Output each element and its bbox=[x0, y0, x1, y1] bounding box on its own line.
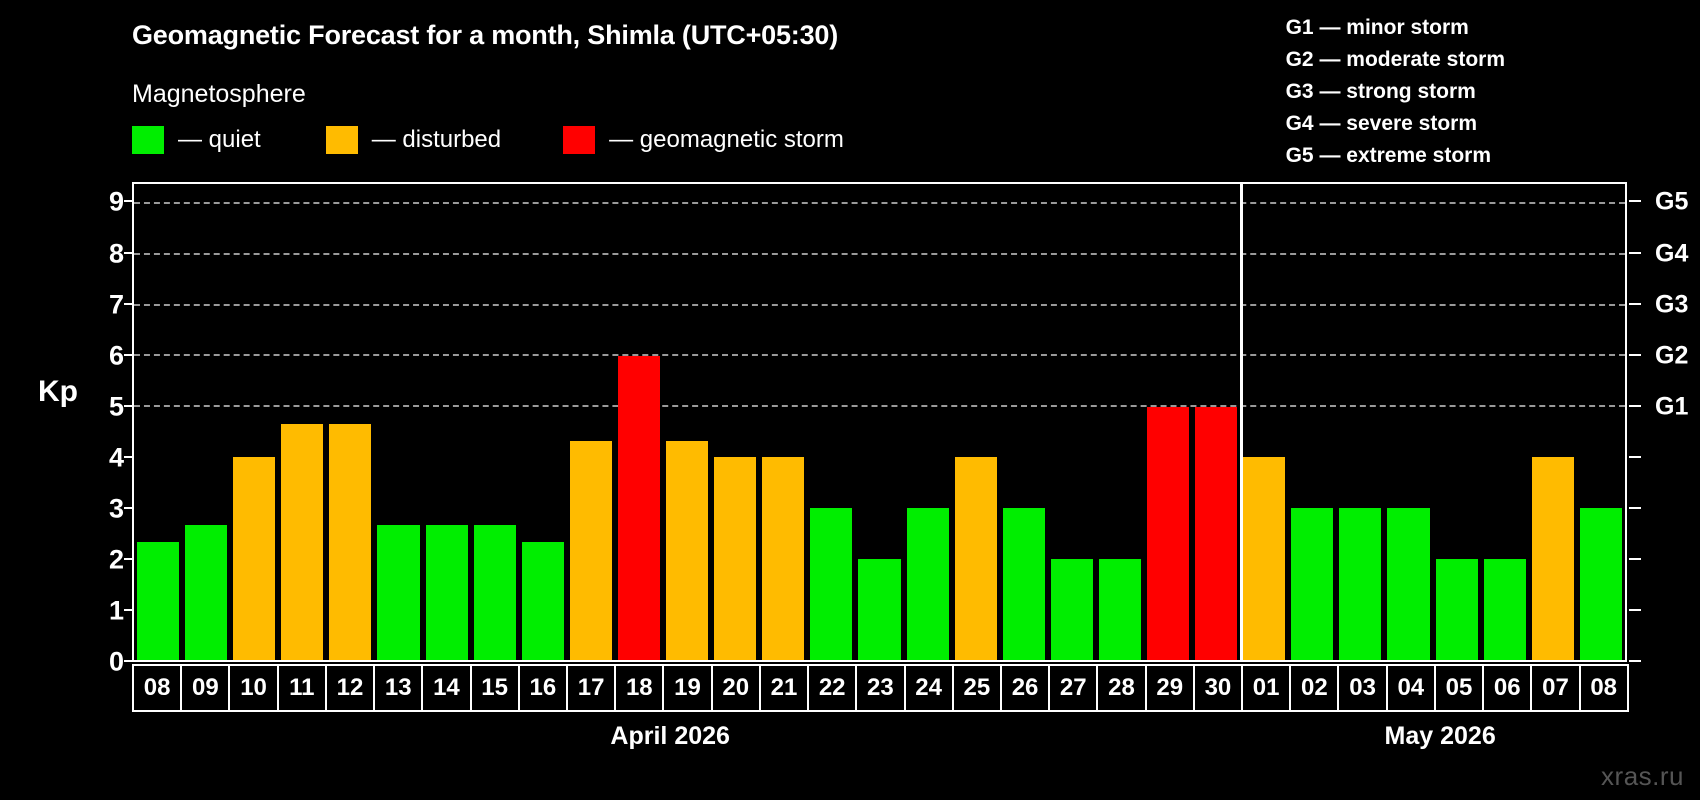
month-label: April 2026 bbox=[610, 722, 730, 751]
bar-cell[interactable] bbox=[1144, 184, 1192, 660]
date-label[interactable]: 29 bbox=[1145, 664, 1195, 712]
bar[interactable] bbox=[474, 525, 516, 660]
date-label[interactable]: 04 bbox=[1386, 664, 1436, 712]
g-tick-label-g1: G1 bbox=[1655, 392, 1688, 421]
bar-cell[interactable] bbox=[904, 184, 952, 660]
legend-label-disturbed: — disturbed bbox=[372, 126, 501, 154]
g-tick-mark-minor bbox=[1629, 558, 1641, 560]
legend-item-storm: — geomagnetic storm bbox=[563, 126, 844, 154]
y-axis-ticks: 0123456789 bbox=[76, 182, 124, 662]
chart-root: Geomagnetic Forecast for a month, Shimla… bbox=[0, 0, 1700, 800]
bar-cell[interactable] bbox=[1048, 184, 1096, 660]
bar-cell[interactable] bbox=[230, 184, 278, 660]
g-tick-mark bbox=[1629, 303, 1641, 305]
date-label[interactable]: 07 bbox=[1530, 664, 1580, 712]
legend-label-quiet: — quiet bbox=[178, 126, 261, 154]
date-label[interactable]: 25 bbox=[952, 664, 1002, 712]
g-scale-item-g3: G3 — strong storm bbox=[1286, 76, 1505, 108]
bar-series bbox=[134, 184, 1625, 660]
month-label: May 2026 bbox=[1385, 722, 1496, 751]
page-title: Geomagnetic Forecast for a month, Shimla… bbox=[132, 20, 838, 51]
bar[interactable] bbox=[1003, 508, 1045, 660]
bar[interactable] bbox=[1291, 508, 1333, 660]
watermark: xras.ru bbox=[1601, 761, 1684, 792]
g-tick-mark bbox=[1629, 200, 1641, 202]
date-label[interactable]: 18 bbox=[614, 664, 664, 712]
g-axis-ticks: G1G2G3G4G5 bbox=[1629, 182, 1699, 662]
date-label[interactable]: 24 bbox=[904, 664, 954, 712]
bar[interactable] bbox=[907, 508, 949, 660]
date-label[interactable]: 20 bbox=[711, 664, 761, 712]
bar-cell[interactable] bbox=[1481, 184, 1529, 660]
y-tick-label: 5 bbox=[90, 391, 124, 422]
date-label[interactable]: 28 bbox=[1096, 664, 1146, 712]
date-label[interactable]: 22 bbox=[807, 664, 857, 712]
bar[interactable] bbox=[233, 457, 275, 660]
y-tick-label: 7 bbox=[90, 289, 124, 320]
bar-cell[interactable] bbox=[1288, 184, 1336, 660]
bar[interactable] bbox=[377, 525, 419, 660]
date-label[interactable]: 15 bbox=[470, 664, 520, 712]
bar[interactable] bbox=[1387, 508, 1429, 660]
date-label[interactable]: 11 bbox=[277, 664, 327, 712]
bar[interactable] bbox=[858, 559, 900, 660]
bar-cell[interactable] bbox=[615, 184, 663, 660]
g-scale-item-g1: G1 — minor storm bbox=[1286, 12, 1505, 44]
g-scale-legend: G1 — minor storm G2 — moderate storm G3 … bbox=[1286, 12, 1505, 172]
g-tick-mark-minor bbox=[1629, 507, 1641, 509]
date-label[interactable]: 17 bbox=[566, 664, 616, 712]
bar-cell[interactable] bbox=[326, 184, 374, 660]
bar-cell[interactable] bbox=[1433, 184, 1481, 660]
bar[interactable] bbox=[1099, 559, 1141, 660]
bar-cell[interactable] bbox=[1529, 184, 1577, 660]
date-label[interactable]: 30 bbox=[1193, 664, 1243, 712]
bar-cell[interactable] bbox=[134, 184, 182, 660]
y-tick-label: 4 bbox=[90, 442, 124, 473]
bar[interactable] bbox=[329, 424, 371, 660]
date-label[interactable]: 06 bbox=[1482, 664, 1532, 712]
bar[interactable] bbox=[1243, 457, 1285, 660]
legend-label-storm: — geomagnetic storm bbox=[609, 126, 844, 154]
bar-cell[interactable] bbox=[663, 184, 711, 660]
bar[interactable] bbox=[1532, 457, 1574, 660]
g-tick-mark bbox=[1629, 405, 1641, 407]
bar[interactable] bbox=[1339, 508, 1381, 660]
bar[interactable] bbox=[570, 441, 612, 660]
month-divider bbox=[1240, 184, 1243, 660]
bar-cell[interactable] bbox=[1240, 184, 1288, 660]
y-axis-label: Kp bbox=[38, 375, 78, 409]
date-label[interactable]: 03 bbox=[1337, 664, 1387, 712]
date-label[interactable]: 08 bbox=[132, 664, 182, 712]
bar-cell[interactable] bbox=[182, 184, 230, 660]
g-tick-mark bbox=[1629, 354, 1641, 356]
bar[interactable] bbox=[1580, 508, 1622, 660]
bar[interactable] bbox=[281, 424, 323, 660]
date-label[interactable]: 19 bbox=[662, 664, 712, 712]
bar-cell[interactable] bbox=[374, 184, 422, 660]
date-label[interactable]: 12 bbox=[325, 664, 375, 712]
plot-area bbox=[132, 182, 1627, 662]
date-label[interactable]: 09 bbox=[180, 664, 230, 712]
g-scale-item-g4: G4 — severe storm bbox=[1286, 108, 1505, 140]
bar-cell[interactable] bbox=[423, 184, 471, 660]
date-label[interactable]: 14 bbox=[421, 664, 471, 712]
bar[interactable] bbox=[714, 457, 756, 660]
y-tick-label: 2 bbox=[90, 544, 124, 575]
g-tick-mark-minor bbox=[1629, 660, 1641, 662]
bar-cell[interactable] bbox=[1384, 184, 1432, 660]
bar-cell[interactable] bbox=[1336, 184, 1384, 660]
date-label[interactable]: 02 bbox=[1289, 664, 1339, 712]
legend-swatch-quiet bbox=[132, 126, 164, 154]
g-tick-mark-minor bbox=[1629, 609, 1641, 611]
bar-cell[interactable] bbox=[807, 184, 855, 660]
g-tick-mark-minor bbox=[1629, 456, 1641, 458]
bar[interactable] bbox=[618, 356, 660, 660]
bar[interactable] bbox=[522, 542, 564, 660]
bar[interactable] bbox=[1051, 559, 1093, 660]
date-label[interactable]: 01 bbox=[1241, 664, 1291, 712]
date-label[interactable]: 13 bbox=[373, 664, 423, 712]
date-label[interactable]: 16 bbox=[518, 664, 568, 712]
bar-cell[interactable] bbox=[278, 184, 326, 660]
g-scale-item-g2: G2 — moderate storm bbox=[1286, 44, 1505, 76]
date-label[interactable]: 21 bbox=[759, 664, 809, 712]
date-label[interactable]: 26 bbox=[1000, 664, 1050, 712]
date-label[interactable]: 23 bbox=[855, 664, 905, 712]
bar-cell[interactable] bbox=[1192, 184, 1240, 660]
bar-cell[interactable] bbox=[1577, 184, 1625, 660]
bar-cell[interactable] bbox=[711, 184, 759, 660]
g-tick-label-g4: G4 bbox=[1655, 239, 1688, 268]
date-label[interactable]: 10 bbox=[228, 664, 278, 712]
bar[interactable] bbox=[185, 525, 227, 660]
bar-cell[interactable] bbox=[567, 184, 615, 660]
legend-item-quiet: — quiet bbox=[132, 126, 261, 154]
bar[interactable] bbox=[137, 542, 179, 660]
bar-cell[interactable] bbox=[1096, 184, 1144, 660]
g-scale-item-g5: G5 — extreme storm bbox=[1286, 140, 1505, 172]
bar-cell[interactable] bbox=[952, 184, 1000, 660]
g-tick-label-g2: G2 bbox=[1655, 341, 1688, 370]
bar[interactable] bbox=[1484, 559, 1526, 660]
magnetosphere-heading: Magnetosphere bbox=[132, 80, 306, 109]
bar-cell[interactable] bbox=[471, 184, 519, 660]
date-label[interactable]: 08 bbox=[1579, 664, 1629, 712]
bar-cell[interactable] bbox=[855, 184, 903, 660]
y-tick-label: 8 bbox=[90, 238, 124, 269]
legend-item-disturbed: — disturbed bbox=[326, 126, 501, 154]
legend-swatch-storm bbox=[563, 126, 595, 154]
y-tick-label: 3 bbox=[90, 493, 124, 524]
bar[interactable] bbox=[1147, 407, 1189, 660]
y-tick-label: 6 bbox=[90, 340, 124, 371]
bar-cell[interactable] bbox=[519, 184, 567, 660]
magnetosphere-legend: — quiet — disturbed — geomagnetic storm bbox=[132, 126, 844, 154]
y-tick-label: 9 bbox=[90, 187, 124, 218]
bar[interactable] bbox=[426, 525, 468, 660]
bar[interactable] bbox=[955, 457, 997, 660]
bar-cell[interactable] bbox=[759, 184, 807, 660]
bar[interactable] bbox=[666, 441, 708, 660]
date-label[interactable]: 27 bbox=[1048, 664, 1098, 712]
legend-swatch-disturbed bbox=[326, 126, 358, 154]
bar[interactable] bbox=[1195, 407, 1237, 660]
g-tick-label-g5: G5 bbox=[1655, 188, 1688, 217]
y-tick-label: 1 bbox=[90, 595, 124, 626]
g-tick-mark bbox=[1629, 252, 1641, 254]
bar[interactable] bbox=[810, 508, 852, 660]
y-tick-label: 0 bbox=[90, 647, 124, 678]
bar-cell[interactable] bbox=[1000, 184, 1048, 660]
g-tick-label-g3: G3 bbox=[1655, 290, 1688, 319]
bar[interactable] bbox=[1436, 559, 1478, 660]
date-label[interactable]: 05 bbox=[1434, 664, 1484, 712]
date-axis: 0809101112131415161718192021222324252627… bbox=[132, 664, 1627, 712]
bar[interactable] bbox=[762, 457, 804, 660]
